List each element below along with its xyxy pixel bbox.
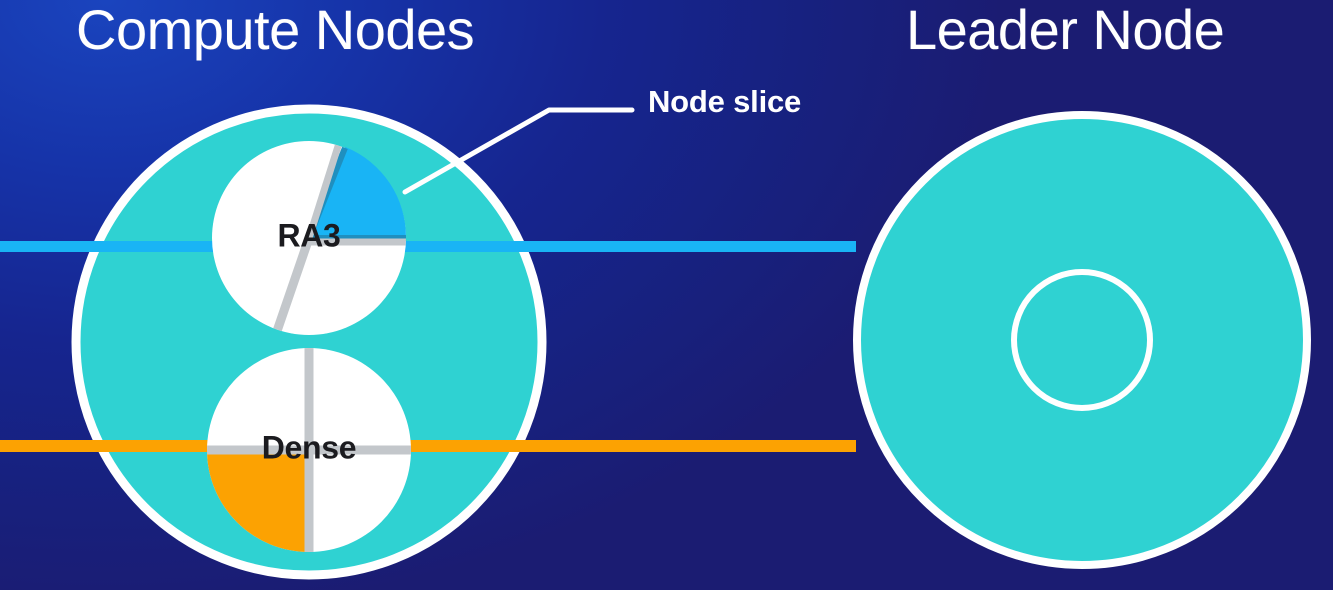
ra3-pie-label: RA3 <box>277 218 340 255</box>
blue-connector-bar-overlay <box>76 241 856 252</box>
page-title-compute-nodes: Compute Nodes <box>76 2 474 58</box>
dense-pie-label: Dense <box>262 430 357 467</box>
leader-node-body[interactable] <box>857 115 1307 565</box>
page-title-leader-node: Leader Node <box>906 2 1224 58</box>
diagram-canvas: Compute Nodes Leader Node Node slice RA3… <box>0 0 1333 590</box>
node-slice-callout-label: Node slice <box>648 84 801 120</box>
orange-connector-bar-overlay <box>76 440 856 452</box>
leader-node[interactable] <box>857 115 1307 565</box>
